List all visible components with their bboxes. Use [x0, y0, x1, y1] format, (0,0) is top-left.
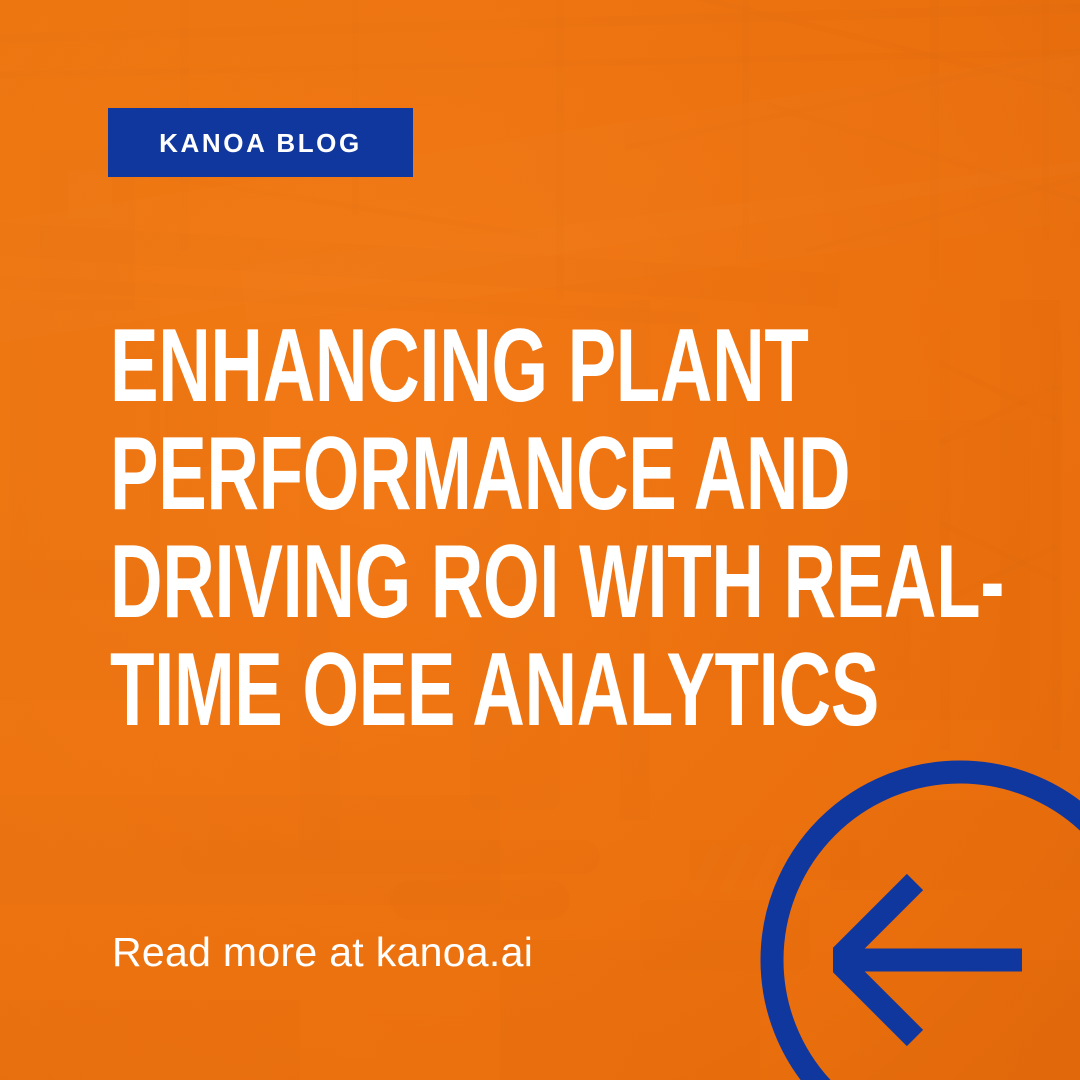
page-title: ENHANCING PLANT PERFORMANCE AND DRIVING … — [110, 312, 950, 744]
badge-label: KANOA BLOG — [159, 130, 362, 156]
kanoa-blog-badge: KANOA BLOG — [108, 108, 413, 177]
headline-line-2: PERFORMANCE AND — [110, 420, 698, 528]
social-share-card: KANOA BLOG ENHANCING PLANT PERFORMANCE A… — [0, 0, 1080, 1080]
headline-line-3: DRIVING ROI WITH REAL- — [110, 528, 698, 636]
headline-line-1: ENHANCING PLANT — [110, 312, 698, 420]
headline-line-4: TIME OEE ANALYTICS — [110, 636, 698, 744]
read-more-cta[interactable]: Read more at kanoa.ai — [112, 930, 533, 975]
